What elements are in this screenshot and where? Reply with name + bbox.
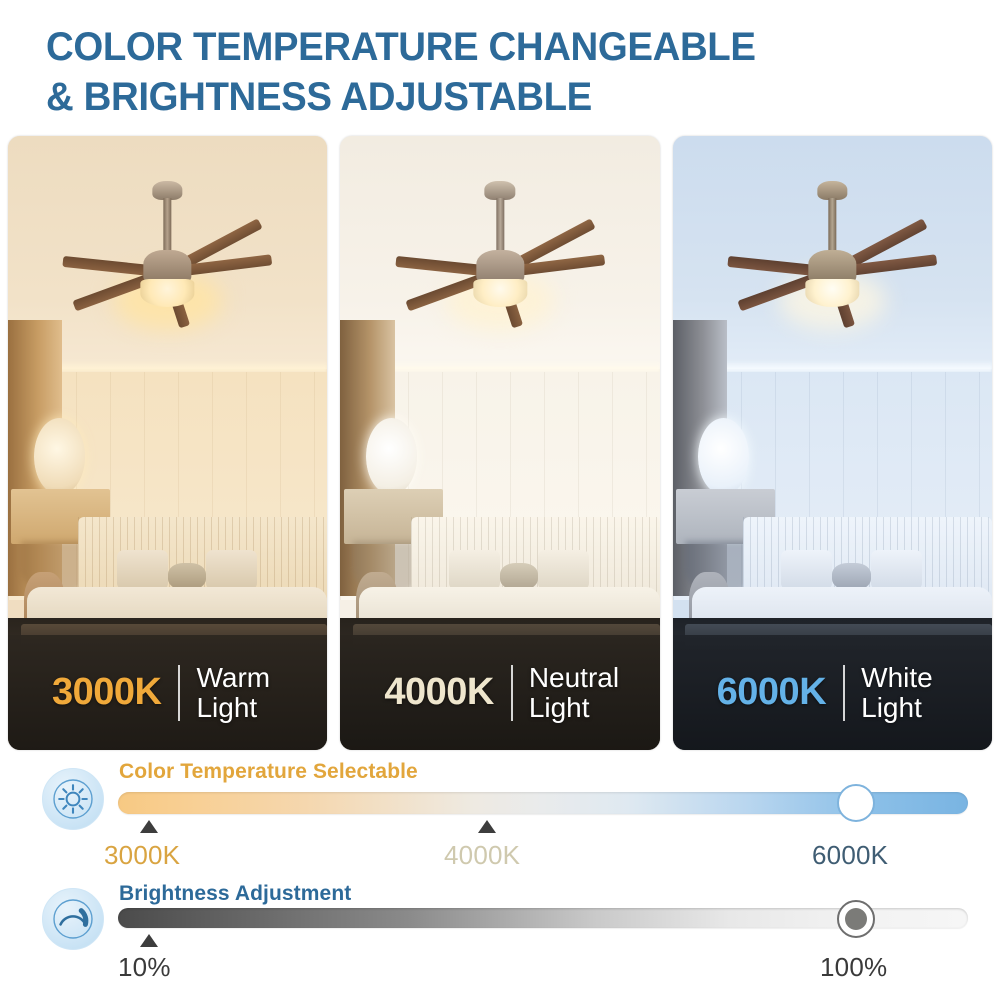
- panel-neutral-4000k: 4000K Neutral Light: [340, 136, 659, 750]
- caption-bar-warm: 3000K Warm Light: [8, 635, 327, 750]
- cushion-center: [500, 563, 538, 591]
- panel-white-6000k: 6000K White Light: [673, 136, 992, 750]
- caption-divider: [843, 665, 845, 721]
- vanity-mirror: [366, 418, 417, 495]
- pillow-right: [871, 550, 922, 590]
- sun-brightness-icon: [42, 768, 104, 830]
- brightness-knob[interactable]: [837, 900, 875, 938]
- cushion-center: [168, 563, 206, 591]
- tick-marker-3000k: [140, 820, 158, 833]
- pillow-left: [117, 550, 168, 590]
- fan-motor-housing: [144, 250, 192, 283]
- headline-line-2: & BRIGHTNESS ADJUSTABLE: [46, 72, 929, 122]
- caption-divider: [511, 665, 513, 721]
- pillow-left: [449, 550, 500, 590]
- ceiling-fan-white: [673, 167, 992, 376]
- tick-label-100-percent: 100%: [820, 952, 887, 983]
- tick-marker-4000k: [478, 820, 496, 833]
- fan-light-kit: [805, 279, 859, 306]
- fan-light-kit: [473, 279, 527, 306]
- panel-warm-3000k: 3000K Warm Light: [8, 136, 327, 750]
- kelvin-value: 3000K: [52, 671, 161, 714]
- headline: COLOR TEMPERATURE CHANGEABLE & BRIGHTNES…: [46, 22, 966, 122]
- light-type-label: White Light: [861, 663, 933, 723]
- tick-label-10-percent: 10%: [118, 952, 171, 983]
- fan-downrod: [496, 198, 504, 254]
- color-temperature-slider-section: Color Temperature Selectable 3000K 4000K…: [0, 758, 1000, 873]
- vanity-mirror: [34, 418, 85, 495]
- fan-downrod: [164, 198, 172, 254]
- kelvin-value: 6000K: [717, 671, 826, 714]
- tick-label-6000k: 6000K: [812, 840, 888, 871]
- vanity-mirror: [698, 418, 749, 495]
- light-type-line-1: Warm: [196, 663, 270, 693]
- pillow-right: [206, 550, 257, 590]
- light-type-line-1: White: [861, 663, 933, 693]
- headline-line-1: COLOR TEMPERATURE CHANGEABLE: [46, 22, 929, 72]
- pillow-right: [538, 550, 589, 590]
- light-type-line-2: Light: [196, 693, 270, 723]
- kelvin-value: 4000K: [384, 671, 493, 714]
- caption-divider: [178, 665, 180, 721]
- light-type-line-1: Neutral: [529, 663, 619, 693]
- light-type-line-2: Light: [861, 693, 933, 723]
- comparison-panel-row: 3000K Warm Light: [8, 136, 992, 750]
- caption-bar-neutral: 4000K Neutral Light: [340, 635, 659, 750]
- tick-marker-10-percent: [140, 934, 158, 947]
- brightness-label: Brightness Adjustment: [119, 882, 351, 906]
- ceiling-fan-warm: [8, 167, 327, 376]
- ceiling-fan-neutral: [340, 167, 659, 376]
- pillow-left: [781, 550, 832, 590]
- tick-label-4000k: 4000K: [444, 840, 520, 871]
- fan-downrod: [828, 198, 836, 254]
- cushion-center: [832, 563, 870, 591]
- fan-light-kit: [141, 279, 195, 306]
- caption-bar-white: 6000K White Light: [673, 635, 992, 750]
- light-type-label: Neutral Light: [529, 663, 619, 723]
- tick-label-3000k: 3000K: [104, 840, 180, 871]
- infographic-page: COLOR TEMPERATURE CHANGEABLE & BRIGHTNES…: [0, 0, 1000, 1000]
- light-type-line-2: Light: [529, 693, 619, 723]
- fan-motor-housing: [808, 250, 856, 283]
- color-temperature-knob[interactable]: [837, 784, 875, 822]
- light-type-label: Warm Light: [196, 663, 270, 723]
- color-temperature-label: Color Temperature Selectable: [119, 760, 418, 784]
- brightness-slider-section: Brightness Adjustment 10% 100%: [0, 878, 1000, 988]
- fan-motor-housing: [476, 250, 524, 283]
- dimmer-knob-icon: [42, 888, 104, 950]
